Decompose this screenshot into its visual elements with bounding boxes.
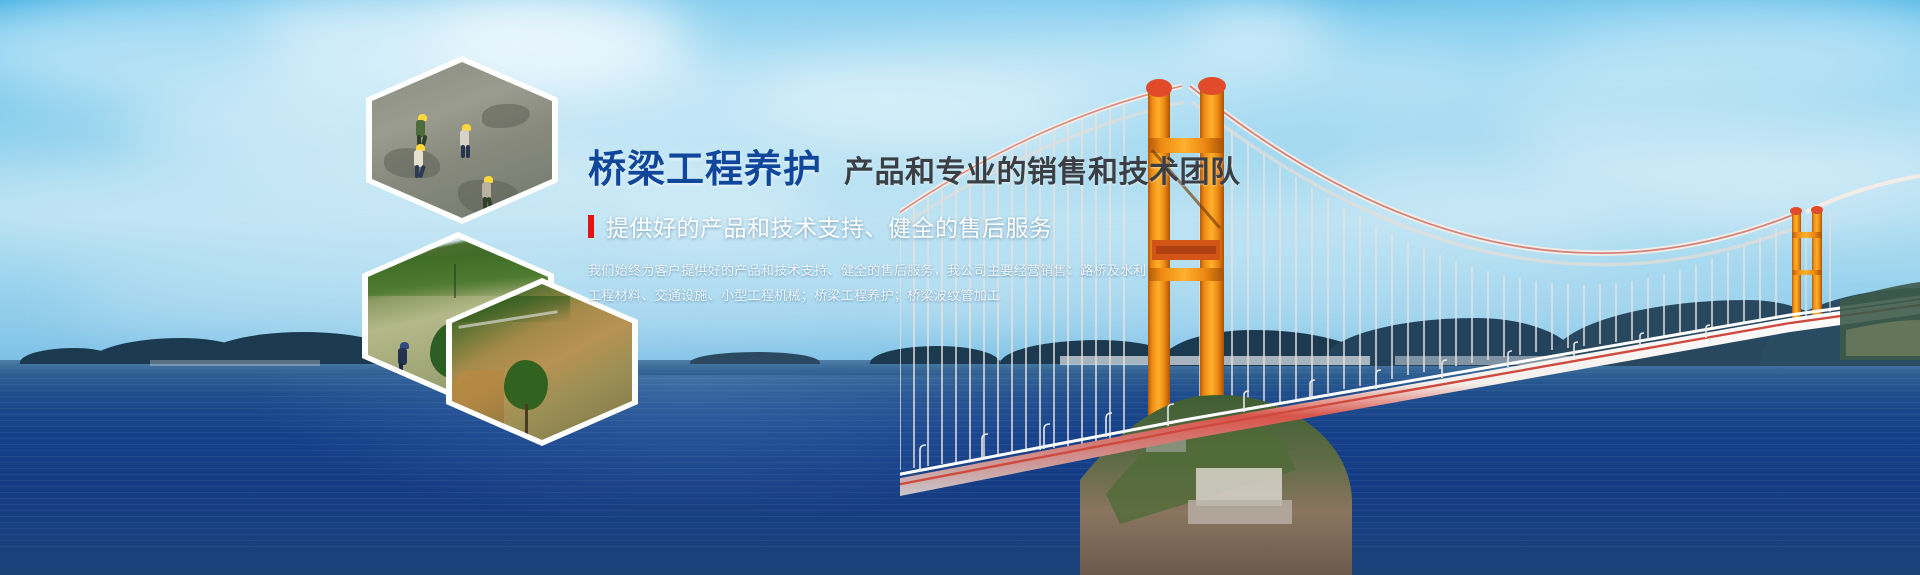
far-shore-town xyxy=(150,360,320,366)
body-line: 我们始终为客户提供好的产品和技术支持、健全的售后服务，我公司主要经营销售：路桥及… xyxy=(588,261,1348,281)
tagline: 提供好的产品和技术支持、健全的售后服务 xyxy=(588,209,1348,243)
headline-secondary: 产品和专业的销售和技术团队 xyxy=(844,147,1241,191)
body-paragraph: 我们始终为客户提供好的产品和技术支持、健全的售后服务，我公司主要经营销售：路桥及… xyxy=(588,261,1348,306)
body-line: 工程材料、交通设施、小型工程机械；桥梁工程养护；桥梁波纹管加工 xyxy=(588,286,1348,306)
copy-block: 桥梁工程养护 产品和专业的销售和技术团队 提供好的产品和技术支持、健全的售后服务… xyxy=(588,138,1348,311)
bridge-deck xyxy=(900,300,1920,500)
headline-primary: 桥梁工程养护 xyxy=(588,138,822,193)
tagline-accent-bar xyxy=(588,215,594,238)
tagline-text: 提供好的产品和技术支持、健全的售后服务 xyxy=(606,209,1053,243)
hero-banner: 桥梁工程养护 产品和专业的销售和技术团队 提供好的产品和技术支持、健全的售后服务… xyxy=(0,0,1920,575)
headline: 桥梁工程养护 产品和专业的销售和技术团队 xyxy=(588,138,1348,193)
main-cable-right xyxy=(1806,176,1920,212)
utility-pole xyxy=(454,264,456,298)
photo-rockfall-mesh-installation xyxy=(372,62,552,218)
